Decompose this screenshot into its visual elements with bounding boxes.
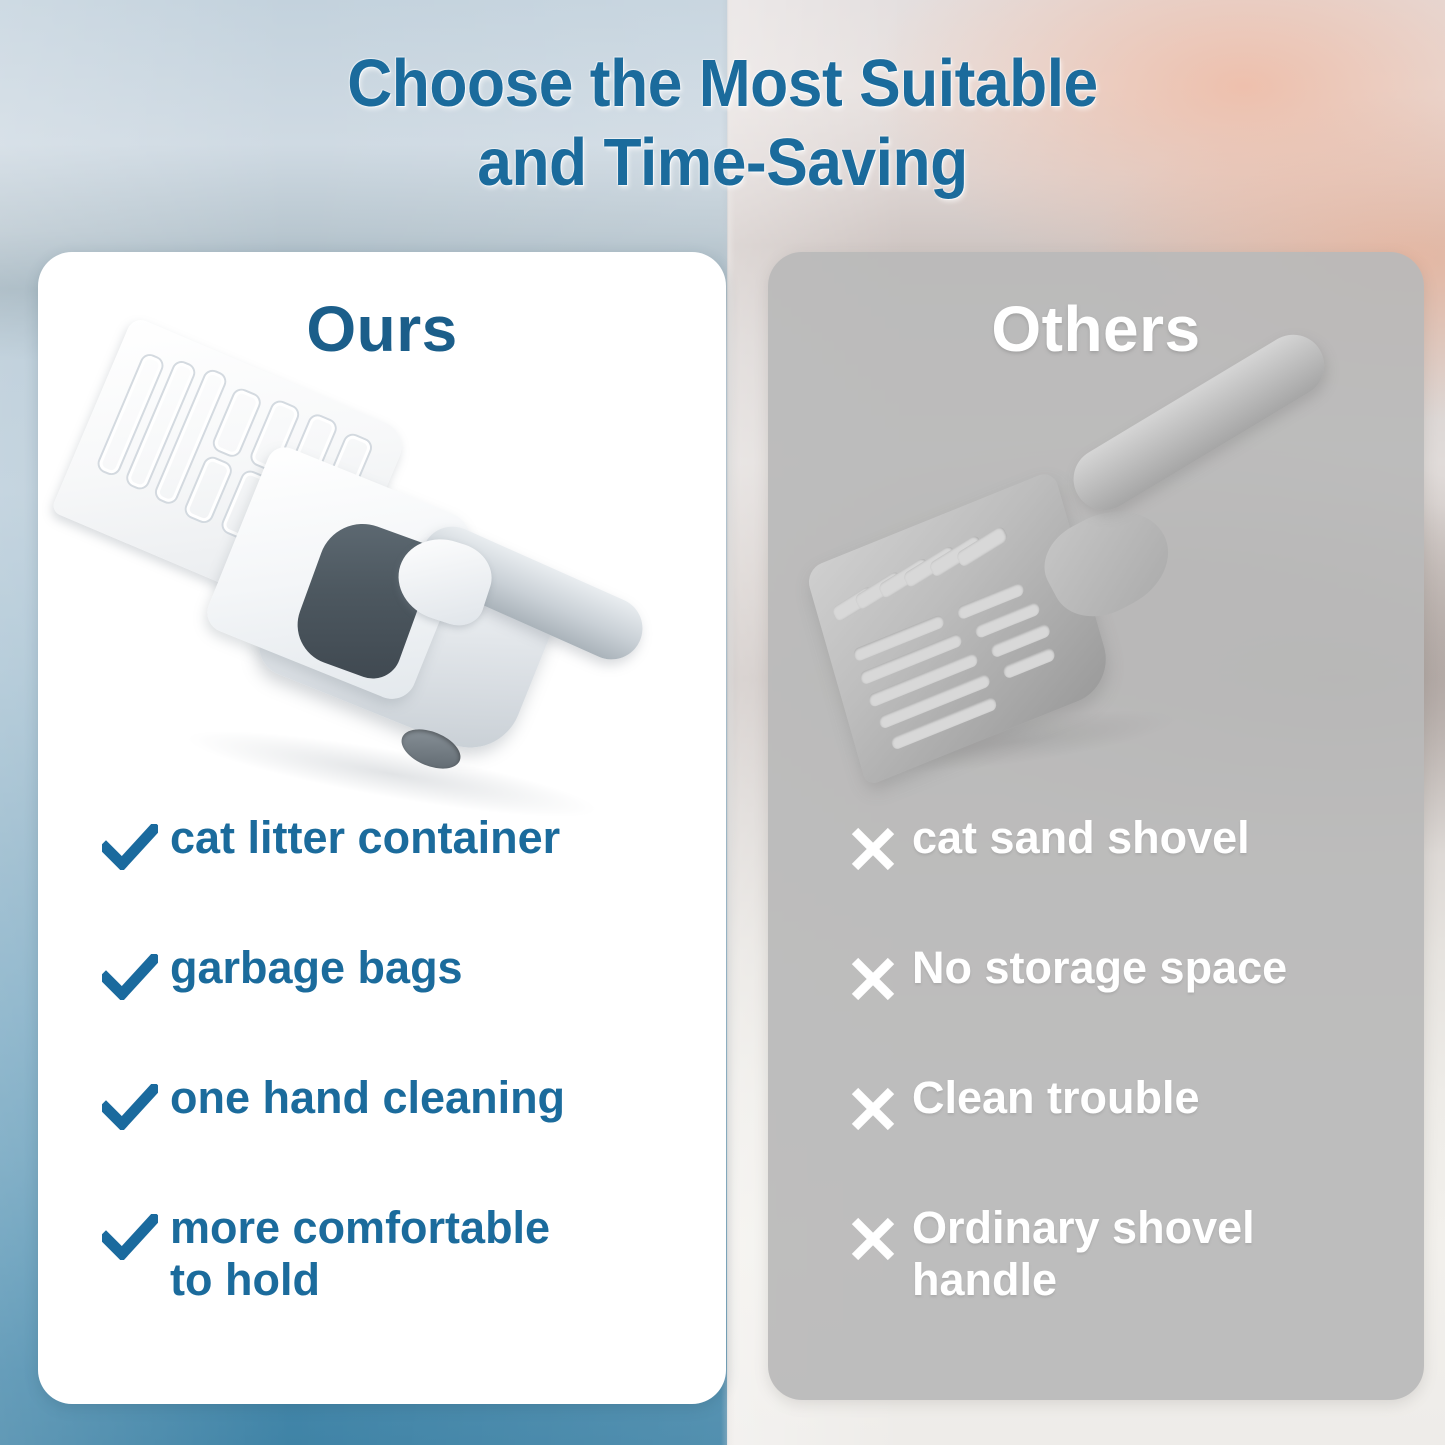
feature-label: more comfortable to hold — [170, 1200, 550, 1306]
title-line-2: and Time-Saving — [51, 123, 1395, 202]
list-item: cat litter container — [96, 810, 696, 940]
x-icon — [838, 1078, 912, 1142]
list-item: No storage space — [838, 940, 1398, 1070]
list-item: cat sand shovel — [838, 810, 1398, 940]
list-item: one hand cleaning — [96, 1070, 696, 1200]
feature-label: cat litter container — [170, 810, 560, 864]
x-icon — [838, 818, 912, 882]
ours-scoop-illustration — [62, 358, 672, 818]
check-icon — [96, 1208, 170, 1272]
feature-label: garbage bags — [170, 940, 463, 994]
feature-label: Ordinary shovel handle — [912, 1200, 1255, 1306]
others-header: Others — [768, 292, 1424, 366]
list-item: more comfortable to hold — [96, 1200, 696, 1330]
check-icon — [96, 1078, 170, 1142]
check-icon — [96, 818, 170, 882]
feature-label: cat sand shovel — [912, 810, 1250, 864]
feature-label: No storage space — [912, 940, 1287, 994]
others-product-image — [810, 372, 1380, 812]
feature-label: Clean trouble — [912, 1070, 1200, 1124]
others-feature-list: cat sand shovel No storage space Clean t… — [838, 810, 1398, 1330]
page-title: Choose the Most Suitable and Time-Saving — [51, 44, 1395, 202]
ours-feature-list: cat litter container garbage bags one ha… — [96, 810, 696, 1330]
list-item: Ordinary shovel handle — [838, 1200, 1398, 1330]
x-icon — [838, 948, 912, 1012]
title-line-1: Choose the Most Suitable — [347, 46, 1097, 121]
infographic-root: Choose the Most Suitable and Time-Saving… — [0, 0, 1445, 1445]
list-item: garbage bags — [96, 940, 696, 1070]
ours-product-image — [62, 358, 672, 818]
check-icon — [96, 948, 170, 1012]
feature-label: one hand cleaning — [170, 1070, 565, 1124]
list-item: Clean trouble — [838, 1070, 1398, 1200]
x-icon — [838, 1208, 912, 1272]
